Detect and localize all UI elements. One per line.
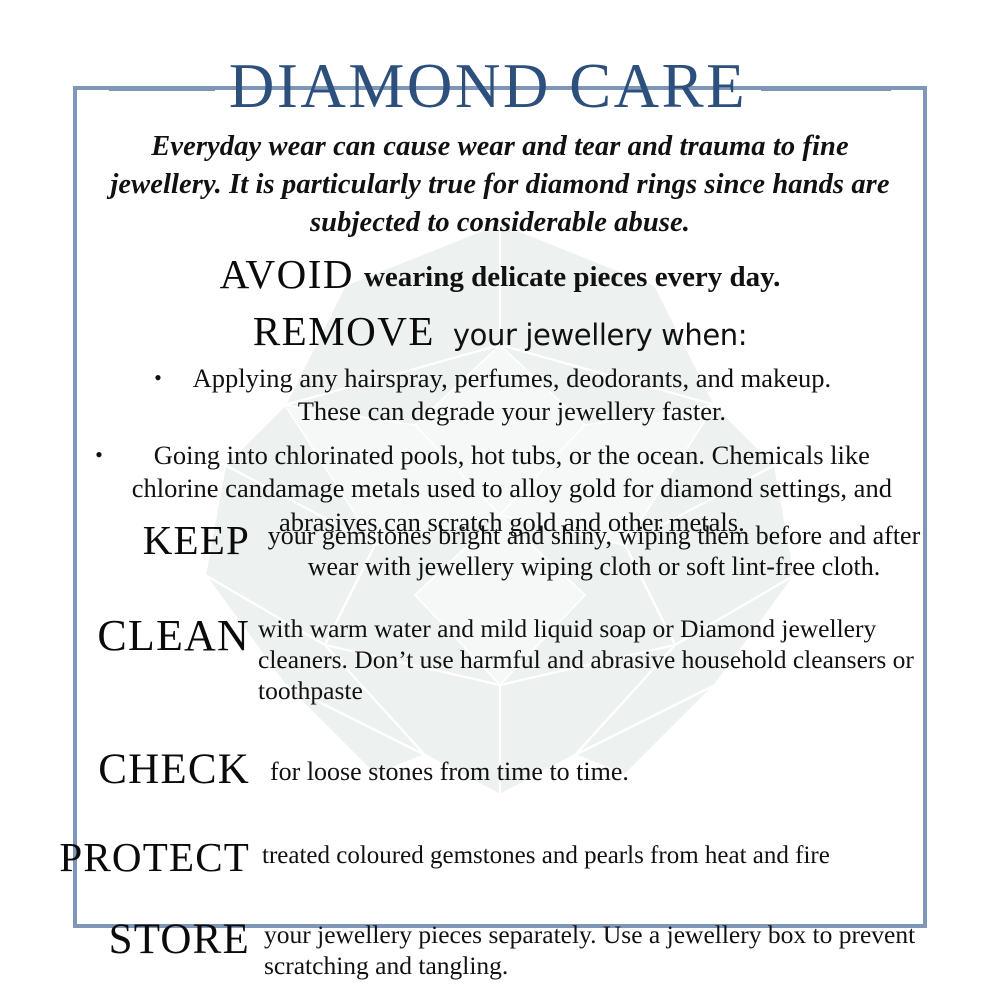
- remove-keyword: REMOVE: [253, 308, 435, 354]
- section-keep: KEEP your gemstones bright and shiny, wi…: [84, 520, 924, 582]
- section-text-check: for loose stones from time to time.: [250, 748, 924, 787]
- remove-section: REMOVEyour jewellery when:: [0, 307, 1000, 355]
- section-text-store: your jewellery pieces separately. Use a …: [250, 918, 924, 981]
- section-keyword-store: STORE: [84, 918, 250, 961]
- section-clean: CLEAN with warm water and mild liquid so…: [84, 614, 924, 706]
- section-keyword-protect: PROTECT: [50, 837, 250, 878]
- section-keyword-clean: CLEAN: [84, 614, 250, 658]
- avoid-section: AVOIDwearing delicate pieces every day.: [0, 250, 1000, 298]
- section-check: CHECK for loose stones from time to time…: [84, 748, 924, 791]
- section-text-protect: treated coloured gemstones and pearls fr…: [250, 837, 924, 871]
- section-text-clean: with warm water and mild liquid soap or …: [250, 614, 924, 706]
- section-text-keep: your gemstones bright and shiny, wiping …: [250, 520, 924, 582]
- section-protect: PROTECT treated coloured gemstones and p…: [84, 837, 924, 878]
- list-item: • Applying any hairspray, perfumes, deod…: [95, 362, 907, 429]
- section-keyword-keep: KEEP: [84, 520, 250, 561]
- page-title: DIAMOND CARE: [229, 55, 747, 122]
- list-item-text: Applying any hairspray, perfumes, deodor…: [176, 362, 848, 429]
- intro-paragraph: Everyday wear can cause wear and tear an…: [95, 128, 905, 243]
- avoid-text: wearing delicate pieces every day.: [364, 261, 780, 293]
- poster-header: DIAMOND CARE: [0, 55, 1000, 122]
- bullet-dot-icon: •: [95, 441, 103, 469]
- care-instruction-sections: KEEP your gemstones bright and shiny, wi…: [84, 520, 924, 981]
- avoid-keyword: AVOID: [220, 251, 354, 297]
- section-store: STORE your jewellery pieces separately. …: [84, 918, 924, 981]
- title-rule-left: [109, 86, 215, 91]
- remove-text: your jewellery when:: [453, 318, 747, 352]
- section-keyword-check: CHECK: [84, 748, 250, 791]
- title-rule-right: [761, 86, 891, 91]
- diamond-care-poster: DIAMOND CARE Everyday wear can cause wea…: [0, 0, 1000, 1000]
- bullet-dot-icon: •: [154, 364, 162, 392]
